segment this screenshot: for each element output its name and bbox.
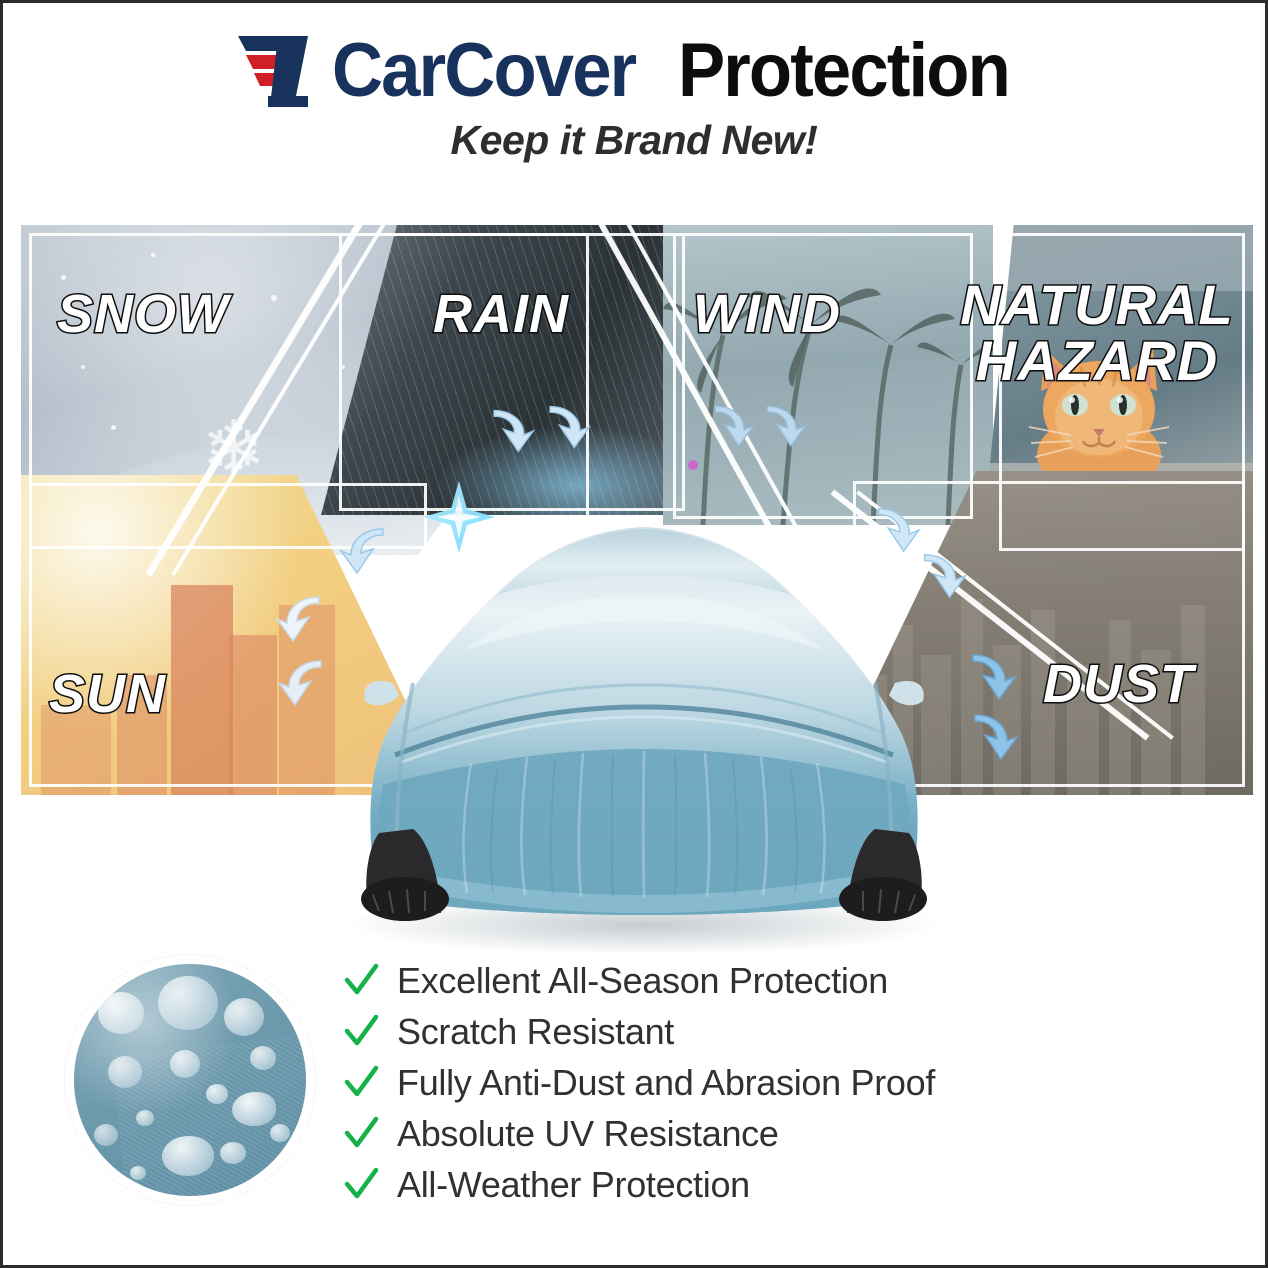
panel-label-snow: SNOW bbox=[57, 287, 229, 341]
water-bead bbox=[170, 1050, 200, 1078]
list-item: All-Weather Protection bbox=[343, 1159, 935, 1210]
deflect-arrow-icon bbox=[277, 655, 335, 713]
deflect-arrow-icon bbox=[961, 709, 1019, 767]
panel-label-wind: WIND bbox=[693, 287, 841, 341]
water-bead bbox=[158, 976, 218, 1030]
check-icon bbox=[343, 1167, 379, 1203]
check-icon bbox=[343, 1065, 379, 1101]
water-bead bbox=[206, 1084, 228, 1104]
brand-lockup: CarCover Protection bbox=[3, 29, 1265, 113]
feature-label: Fully Anti-Dust and Abrasion Proof bbox=[397, 1062, 935, 1104]
sparkle-icon bbox=[423, 481, 495, 553]
feature-label: Excellent All-Season Protection bbox=[397, 960, 888, 1002]
check-icon bbox=[343, 1116, 379, 1152]
water-bead bbox=[108, 1056, 142, 1088]
check-icon bbox=[343, 963, 379, 999]
brand-name: CarCover bbox=[332, 33, 635, 109]
water-bead bbox=[270, 1124, 290, 1142]
water-bead bbox=[162, 1136, 214, 1176]
water-bead-closeup bbox=[65, 955, 315, 1205]
water-bead bbox=[250, 1046, 276, 1070]
tagline: Keep it Brand New! bbox=[3, 117, 1265, 164]
water-bead bbox=[130, 1166, 146, 1180]
panel-label-natural-hazard: NATURAL HAZARD bbox=[947, 277, 1247, 389]
deflect-arrow-icon bbox=[755, 401, 807, 453]
feature-label: All-Weather Protection bbox=[397, 1164, 750, 1206]
deflect-arrow-icon bbox=[481, 405, 535, 459]
page-header: CarCover Protection Keep it Brand New! bbox=[3, 3, 1265, 164]
brand-suffix: Protection bbox=[678, 33, 1009, 109]
list-item: Absolute UV Resistance bbox=[343, 1108, 935, 1159]
list-item: Scratch Resistant bbox=[343, 1006, 935, 1057]
water-bead bbox=[220, 1142, 246, 1164]
water-bead bbox=[136, 1110, 154, 1126]
deflect-arrow-icon bbox=[339, 523, 397, 581]
list-item: Fully Anti-Dust and Abrasion Proof bbox=[343, 1057, 935, 1108]
water-bead bbox=[232, 1092, 276, 1126]
building-shape bbox=[171, 585, 233, 795]
panel-label-sun: SUN bbox=[49, 667, 166, 721]
check-icon bbox=[343, 1014, 379, 1050]
water-bead bbox=[98, 992, 144, 1034]
panel-label-rain: RAIN bbox=[433, 287, 569, 341]
feature-list: Excellent All-Season Protection Scratch … bbox=[343, 955, 935, 1210]
feature-label: Scratch Resistant bbox=[397, 1011, 674, 1053]
deflect-arrow-icon bbox=[703, 401, 755, 453]
deflect-arrow-icon bbox=[911, 549, 967, 605]
water-bead bbox=[94, 1124, 118, 1146]
feature-label: Absolute UV Resistance bbox=[397, 1113, 779, 1155]
panel-label-dust: DUST bbox=[1043, 657, 1194, 711]
water-bead bbox=[224, 998, 264, 1036]
list-item: Excellent All-Season Protection bbox=[343, 955, 935, 1006]
deflect-arrow-icon bbox=[275, 591, 333, 649]
building-shape bbox=[229, 635, 277, 795]
icarcover-logo-icon bbox=[234, 34, 326, 108]
deflect-arrow-icon bbox=[959, 649, 1017, 707]
deflect-arrow-icon bbox=[537, 401, 591, 455]
